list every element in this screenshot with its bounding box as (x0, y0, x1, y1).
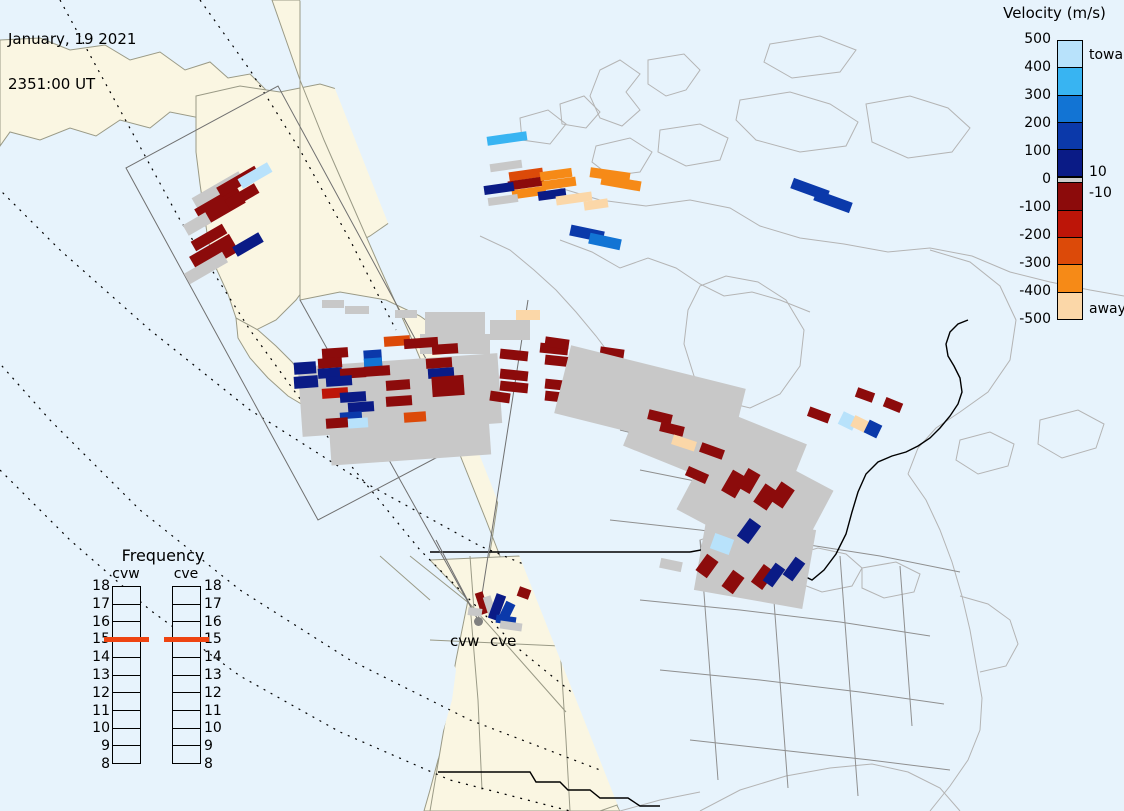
frequency-cell (113, 746, 140, 763)
radar-echo-cell (364, 365, 391, 377)
colorbar-band (1058, 150, 1082, 177)
colorbar-inner-lower-label: -10 (1089, 185, 1112, 201)
frequency-tick-left: 14 (88, 649, 110, 665)
radar-echo-cell (487, 131, 528, 145)
frequency-cell (113, 676, 140, 694)
radar-echo-cell (318, 357, 343, 369)
frequency-tick-left: 12 (88, 685, 110, 701)
radar-echo-cell (490, 320, 530, 340)
radar-echo-cell (322, 347, 349, 359)
colorbar-band (1058, 123, 1082, 150)
frequency-marker-cve (164, 637, 209, 642)
frequency-tick-left: 8 (88, 756, 110, 772)
frequency-tick-right: 13 (204, 667, 226, 683)
frequency-bar-cve (172, 586, 201, 764)
radar-echo-cell (490, 160, 523, 172)
colorbar-band (1058, 68, 1082, 95)
frequency-cell (113, 605, 140, 623)
colorbar-tick: 200 (987, 115, 1051, 131)
frequency-cell (173, 605, 200, 623)
radar-echo-cell (294, 361, 317, 375)
radar-echo-cell (395, 310, 417, 318)
radar-echo-cell (345, 306, 369, 314)
radar-site-label-cvw: cvw (450, 632, 479, 650)
frequency-tick-left: 17 (88, 596, 110, 612)
radar-site-marker (474, 617, 483, 626)
radar-echo-cell (425, 312, 485, 334)
frequency-cell (173, 587, 200, 605)
colorbar-band (1058, 238, 1082, 265)
timestamp-block: January, 19 2021 2351:00 UT (8, 2, 136, 122)
colorbar-band (1058, 265, 1082, 292)
radar-echo-cell (500, 369, 529, 382)
colorbar-band (1058, 41, 1082, 68)
colorbar-tick: 100 (987, 143, 1051, 159)
colorbar-toward-label: toward (1089, 47, 1124, 63)
frequency-tick-right: 16 (204, 614, 226, 630)
frequency-cell (173, 640, 200, 658)
radar-echo-cell (326, 417, 349, 429)
colorbar-title: Velocity (m/s) (985, 4, 1124, 22)
radar-echo-cell (340, 391, 367, 403)
colorbar-band (1058, 183, 1082, 210)
frequency-tick-left: 18 (88, 578, 110, 594)
colorbar-band (1058, 211, 1082, 238)
colorbar-away-label: away (1089, 301, 1124, 317)
velocity-colorbar: Velocity (m/s) 5004003002001000-100-200-… (985, 0, 1124, 340)
frequency-tick-right: 18 (204, 578, 226, 594)
timestamp-time: 2351:00 UT (8, 77, 136, 92)
frequency-tick-right: 17 (204, 596, 226, 612)
colorbar-tick: 300 (987, 87, 1051, 103)
frequency-cell (173, 729, 200, 747)
radar-echo-cell (431, 375, 464, 397)
colorbar-gradient (1057, 40, 1083, 320)
colorbar-tick: -100 (987, 199, 1051, 215)
frequency-cell (113, 711, 140, 729)
frequency-cell (113, 658, 140, 676)
radar-echo-cell (322, 300, 344, 308)
frequency-cell (173, 658, 200, 676)
radar-echo-cell (294, 375, 319, 389)
radar-echo-cell (813, 190, 852, 213)
colorbar-tick: -400 (987, 283, 1051, 299)
colorbar-band (1058, 96, 1082, 123)
frequency-cell (113, 640, 140, 658)
colorbar-tick: 0 (987, 171, 1051, 187)
radar-echo-cell (404, 411, 427, 423)
frequency-tick-left: 9 (88, 738, 110, 754)
radar-echo-cell (348, 401, 375, 413)
frequency-tick-left: 10 (88, 720, 110, 736)
radar-echo-cell (659, 558, 683, 572)
frequency-tick-right: 11 (204, 703, 226, 719)
colorbar-tick: 400 (987, 59, 1051, 75)
frequency-cell (113, 693, 140, 711)
frequency-cell (173, 746, 200, 763)
frequency-cell (173, 711, 200, 729)
frequency-cell (113, 729, 140, 747)
radar-echo-cell (883, 397, 903, 413)
radar-echo-cell (386, 379, 411, 391)
colorbar-tick: -300 (987, 255, 1051, 271)
colorbar-band (1058, 293, 1082, 319)
frequency-tick-left: 16 (88, 614, 110, 630)
frequency-bar-cvw (112, 586, 141, 764)
timestamp-date: January, 19 2021 (8, 32, 136, 47)
frequency-legend-title: Frequency (88, 546, 238, 565)
radar-echo-cell (516, 310, 540, 320)
radar-echo-cell (488, 194, 519, 206)
frequency-tick-right: 14 (204, 649, 226, 665)
frequency-tick-left: 11 (88, 703, 110, 719)
radar-echo-cell (500, 381, 529, 394)
frequency-tick-right: 8 (204, 756, 226, 772)
colorbar-inner-upper-label: 10 (1089, 164, 1107, 180)
radar-echo-cell (807, 407, 831, 424)
frequency-tick-right: 12 (204, 685, 226, 701)
radar-echo-cell (386, 395, 413, 407)
frequency-marker-cvw (104, 637, 149, 642)
colorbar-tick: 500 (987, 31, 1051, 47)
radar-echo-cell (426, 357, 453, 369)
radar-echo-cell (326, 375, 353, 387)
frequency-tick-right: 9 (204, 738, 226, 754)
frequency-tick-right: 10 (204, 720, 226, 736)
radar-echo-cell (588, 233, 622, 250)
map-canvas: January, 19 2021 2351:00 UT cvw cve Velo… (0, 0, 1124, 811)
radar-echo-cell (348, 417, 369, 428)
radar-echo-cell (484, 182, 515, 195)
radar-echo-cell (855, 387, 875, 403)
frequency-cell (113, 587, 140, 605)
radar-echo-cell (500, 349, 529, 362)
frequency-cell (173, 693, 200, 711)
colorbar-tick: -200 (987, 227, 1051, 243)
radar-echo-cell (432, 343, 459, 355)
frequency-cell (173, 676, 200, 694)
frequency-legend: Frequency cvw cve 18171615141312111098 1… (88, 546, 238, 786)
colorbar-tick: -500 (987, 311, 1051, 327)
frequency-tick-left: 13 (88, 667, 110, 683)
frequency-column-header-cve: cve (166, 566, 206, 582)
radar-site-label-cve: cve (490, 632, 516, 650)
frequency-column-header-cvw: cvw (106, 566, 146, 582)
